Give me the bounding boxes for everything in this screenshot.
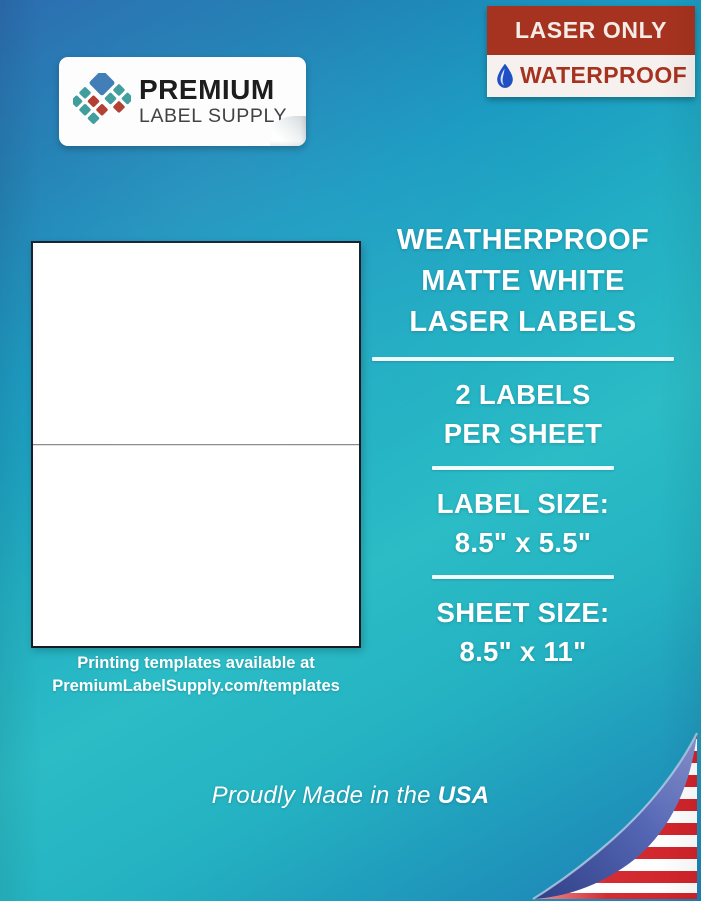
template-note-line1: Printing templates available at	[0, 652, 392, 675]
brand-name-secondary: LABEL SUPPLY	[139, 107, 287, 127]
brand-name-primary: PREMIUM	[139, 76, 287, 104]
template-note-line2: PremiumLabelSupply.com/templates	[0, 675, 392, 698]
label-sheet-preview	[31, 241, 361, 648]
diamond-grid-logo-icon	[73, 73, 131, 131]
product-package-image: PREMIUM LABEL SUPPLY LASER ONLY WATERPRO…	[0, 0, 701, 901]
labels-per-sheet-text: PER SHEET	[368, 414, 678, 453]
usa-flag-page-curl-icon	[529, 661, 701, 901]
label-cut-line	[33, 444, 359, 446]
laser-only-badge: LASER ONLY	[487, 6, 695, 55]
spec-divider-3	[432, 575, 614, 579]
label-size-value: 8.5" x 5.5"	[368, 523, 678, 562]
headline-line-1: WEATHERPROOF	[368, 220, 678, 261]
headline-line-3: LASER LABELS	[368, 302, 678, 343]
sheet-size-title: SHEET SIZE:	[368, 593, 678, 632]
made-in-usa-prefix: Proudly Made in the	[212, 782, 438, 809]
spec-divider-1	[372, 357, 674, 361]
headline-line-2: MATTE WHITE	[368, 261, 678, 302]
waterproof-badge: WATERPROOF	[487, 55, 695, 97]
spec-column: WEATHERPROOF MATTE WHITE LASER LABELS 2 …	[368, 220, 678, 671]
spec-divider-2	[432, 466, 614, 470]
label-size-title: LABEL SIZE:	[368, 484, 678, 523]
brand-logo-card: PREMIUM LABEL SUPPLY	[59, 57, 306, 146]
made-in-usa-country: USA	[438, 782, 490, 809]
water-drop-icon	[495, 63, 515, 89]
labels-per-sheet-count: 2 LABELS	[368, 375, 678, 414]
brand-wordmark: PREMIUM LABEL SUPPLY	[139, 76, 287, 127]
template-note: Printing templates available at PremiumL…	[0, 652, 392, 699]
waterproof-label: WATERPROOF	[520, 62, 687, 89]
product-badges: LASER ONLY WATERPROOF	[487, 6, 695, 97]
